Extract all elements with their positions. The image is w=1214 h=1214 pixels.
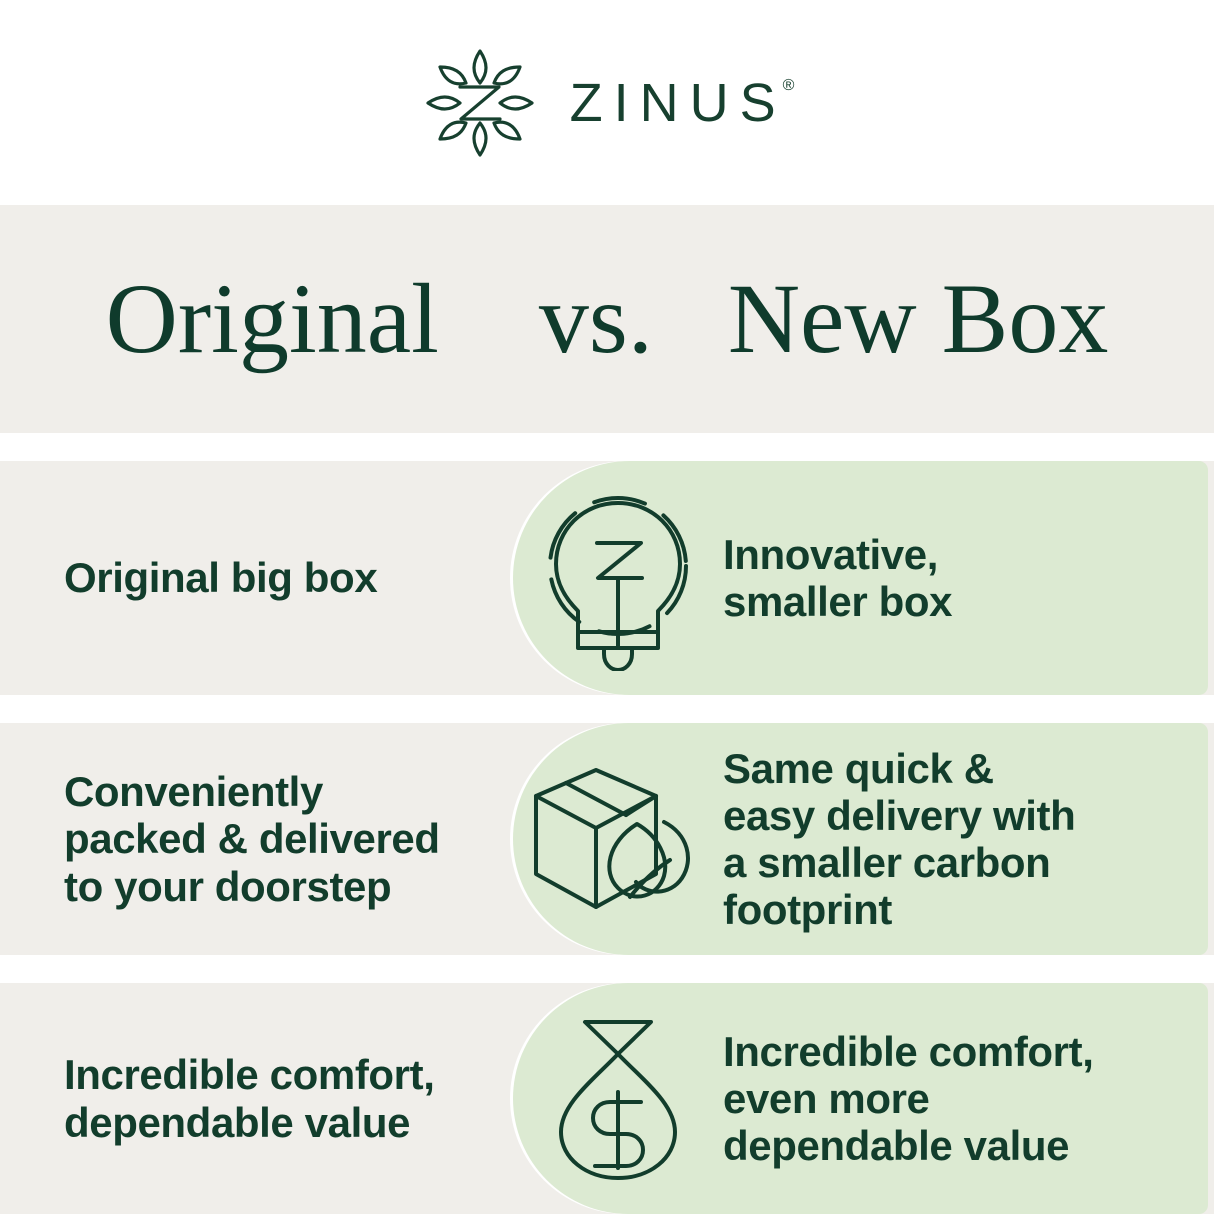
original-column-value: Incredible comfort, dependable value [64, 983, 514, 1214]
new-box-panel-delivery: Same quick & easy delivery with a smalle… [513, 723, 1208, 955]
new-box-text-value: Incredible comfort, even more dependable… [723, 1028, 1093, 1169]
brand-wordmark-text: ZINUS [570, 76, 787, 130]
brand-header: ZINUS ® [0, 0, 1214, 205]
package-leaf-icon [513, 764, 723, 914]
comparison-row-value: Incredible comfort, dependable value Inc… [0, 983, 1214, 1214]
new-box-text-delivery: Same quick & easy delivery with a smalle… [723, 745, 1075, 933]
original-column-box-size: Original big box [64, 461, 514, 695]
original-text-value: Incredible comfort, dependable value [64, 1051, 434, 1145]
registered-trademark-icon: ® [783, 78, 795, 94]
comparison-row-delivery: Conveniently packed & delivered to your … [0, 723, 1214, 955]
comparison-row-box-size: Original big box [0, 461, 1214, 695]
brand-wordmark: ZINUS ® [570, 76, 795, 130]
new-box-panel-value: Incredible comfort, even more dependable… [513, 983, 1208, 1214]
original-column-delivery: Conveniently packed & delivered to your … [64, 723, 514, 955]
original-text-box-size: Original big box [64, 554, 377, 601]
page-title: Original vs. New Box [106, 269, 1109, 369]
new-box-text-box-size: Innovative, smaller box [723, 531, 952, 625]
zinus-leaf-monogram-icon [420, 43, 540, 163]
original-text-delivery: Conveniently packed & delivered to your … [64, 768, 440, 909]
title-band: Original vs. New Box [0, 205, 1214, 433]
money-bag-dollar-icon [513, 1014, 723, 1184]
lightbulb-z-icon [513, 486, 723, 671]
logo-lockup: ZINUS ® [420, 43, 795, 163]
new-box-panel-box-size: Innovative, smaller box [513, 461, 1208, 695]
